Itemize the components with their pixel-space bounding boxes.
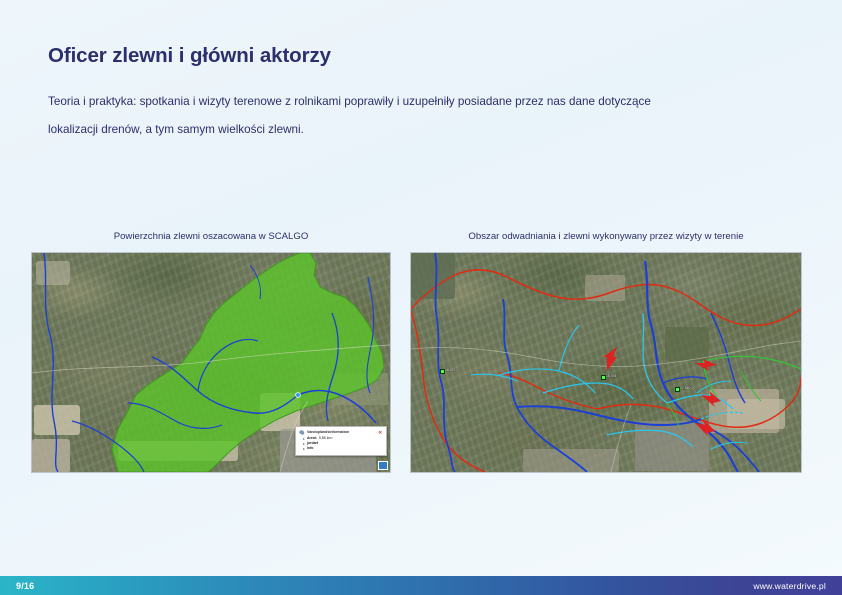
chevron-right-icon xyxy=(303,443,305,445)
body-paragraph: Teoria i praktyka: spotkania i wizyty te… xyxy=(48,88,788,144)
map-image-scalgo[interactable]: Vandoplandsinformation ✕ Areal: 5,85 km²… xyxy=(31,252,391,473)
chevron-right-icon xyxy=(303,448,305,450)
survey-node-label: 15 491 xyxy=(606,374,616,378)
figure-caption-left: Powierzchnia zlewni oszacowana w SCALGO xyxy=(31,231,391,242)
scalgo-info-popup[interactable]: Vandoplandsinformation ✕ Areal: 5,85 km²… xyxy=(295,426,387,456)
scalgo-key-info: info xyxy=(307,447,313,451)
map-noise-right xyxy=(411,253,801,472)
footer-website-url[interactable]: www.waterdrive.pl xyxy=(753,581,826,591)
figure-caption-right: Obszar odwadniania i zlewni wykonywany p… xyxy=(410,231,802,242)
scalgo-row-areal[interactable]: Areal: 5,85 km² xyxy=(300,437,382,441)
body-line-1: Teoria i praktyka: spotkania i wizyty te… xyxy=(48,88,788,116)
water-drop-icon xyxy=(299,430,305,436)
scalgo-popup-header: Vandoplandsinformation ✕ xyxy=(300,430,382,435)
map-image-field-survey[interactable]: 17 540 15 491 16 497 xyxy=(410,252,802,473)
body-line-2: lokalizacji drenów, a tym samym wielkośc… xyxy=(48,116,788,144)
chevron-right-icon xyxy=(303,438,305,440)
figure-field-survey: Obszar odwadniania i zlewni wykonywany p… xyxy=(410,231,802,473)
scalgo-key-areal: Areal: xyxy=(307,437,317,441)
page-title: Oficer zlewni i główni aktorzy xyxy=(48,44,331,68)
close-icon[interactable]: ✕ xyxy=(378,431,382,435)
survey-node-label: 17 540 xyxy=(680,386,690,390)
scalgo-value-areal: 5,85 km² xyxy=(319,437,333,441)
survey-node-label: 16 497 xyxy=(445,368,455,372)
map-attribution-badge[interactable] xyxy=(378,461,388,470)
scalgo-row-info[interactable]: info xyxy=(300,447,382,451)
figure-scalgo-catchment: Powierzchnia zlewni oszacowana w SCALGO xyxy=(31,231,391,473)
slide-page-number: 9/16 xyxy=(16,581,34,591)
slide: Oficer zlewni i główni aktorzy Teoria i … xyxy=(0,0,842,595)
footer-bar: 9/16 www.waterdrive.pl xyxy=(0,576,842,595)
scalgo-popup-title: Vandoplandsinformation xyxy=(307,431,375,435)
